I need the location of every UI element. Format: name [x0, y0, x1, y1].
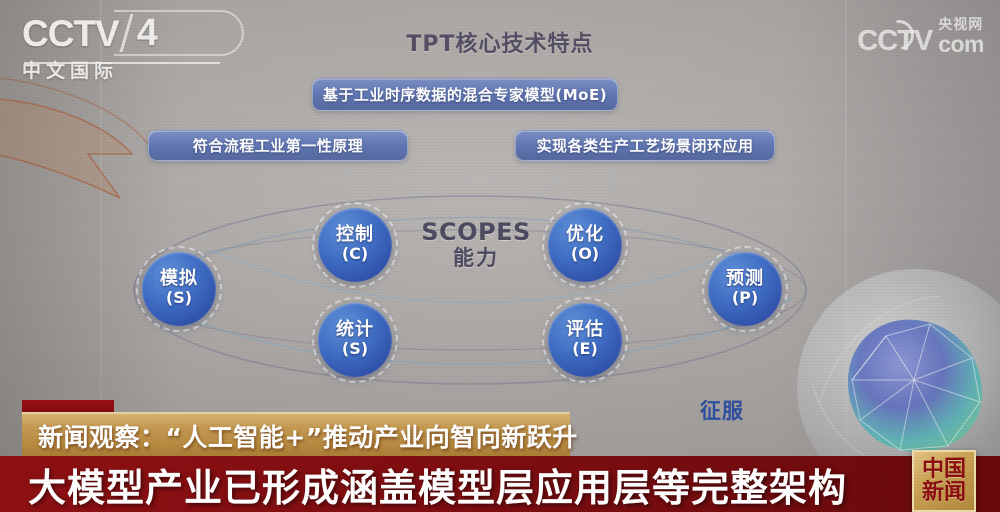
logo-cctv-text: CCTV	[22, 15, 119, 52]
node-statistics: 统计 (S)	[318, 303, 392, 377]
logo-subtitle: 中文国际	[22, 56, 232, 83]
node-simulation-cn: 模拟	[160, 270, 198, 289]
node-control-abbr: (C)	[342, 245, 368, 263]
program-badge: 中国 新闻	[912, 450, 976, 512]
capsule-closed-loop: 实现各类生产工艺场景闭环应用	[515, 130, 775, 161]
slide-title: TPT核心技术特点	[360, 26, 640, 58]
centre-label: SCOPES 能力	[412, 219, 540, 272]
node-prediction-cn: 预测	[726, 270, 764, 289]
node-evaluation: 评估 (E)	[548, 303, 622, 377]
node-evaluation-abbr: (E)	[572, 340, 598, 358]
lower-third-topic-bar: 新闻观察：“人工智能+”推动产业向智向新跃升	[22, 412, 570, 458]
node-statistics-cn: 统计	[336, 321, 374, 340]
node-statistics-abbr: (S)	[342, 340, 368, 358]
watermark-com-text: com	[938, 33, 984, 56]
program-badge-line2: 新闻	[922, 481, 966, 504]
node-optimization-abbr: (O)	[571, 245, 599, 263]
channel-logo: CCTV 4 中文国际	[22, 14, 232, 83]
program-badge-line1: 中国	[922, 458, 966, 481]
capsule-first-principle: 符合流程工业第一性原理	[148, 130, 408, 161]
capsule-moe: 基于工业时序数据的混合专家模型(MoE)	[312, 78, 618, 111]
node-simulation: 模拟 (S)	[142, 252, 216, 326]
centre-label-cn: 能力	[412, 245, 540, 271]
lower-third: 新闻观察：“人工智能+”推动产业向智向新跃升 大模型产业已形成涵盖模型层应用层等…	[0, 400, 1000, 512]
node-prediction: 预测 (P)	[708, 252, 782, 326]
node-prediction-abbr: (P)	[732, 289, 758, 307]
node-evaluation-cn: 评估	[566, 321, 604, 340]
node-optimization: 优化 (O)	[548, 208, 622, 282]
lower-third-topic-text: 新闻观察：“人工智能+”推动产业向智向新跃升	[22, 418, 578, 454]
cctv-com-watermark: CCTV 央视网 com	[857, 18, 984, 56]
broadcast-screenshot: CCTV 4 中文国际 CCTV 央视网 com TPT核心技术特点 基于工业时…	[0, 0, 1000, 512]
node-simulation-abbr: (S)	[166, 289, 192, 307]
node-optimization-cn: 优化	[566, 226, 604, 245]
logo-underline	[24, 62, 220, 64]
node-control: 控制 (C)	[318, 208, 392, 282]
node-control-cn: 控制	[336, 226, 374, 245]
watermark-cn-text: 央视网	[938, 18, 984, 32]
centre-label-en: SCOPES	[412, 219, 540, 245]
lower-third-headline-text: 大模型产业已形成涵盖模型层应用层等完整架构	[28, 458, 847, 510]
logo-pill-outline	[114, 10, 244, 56]
